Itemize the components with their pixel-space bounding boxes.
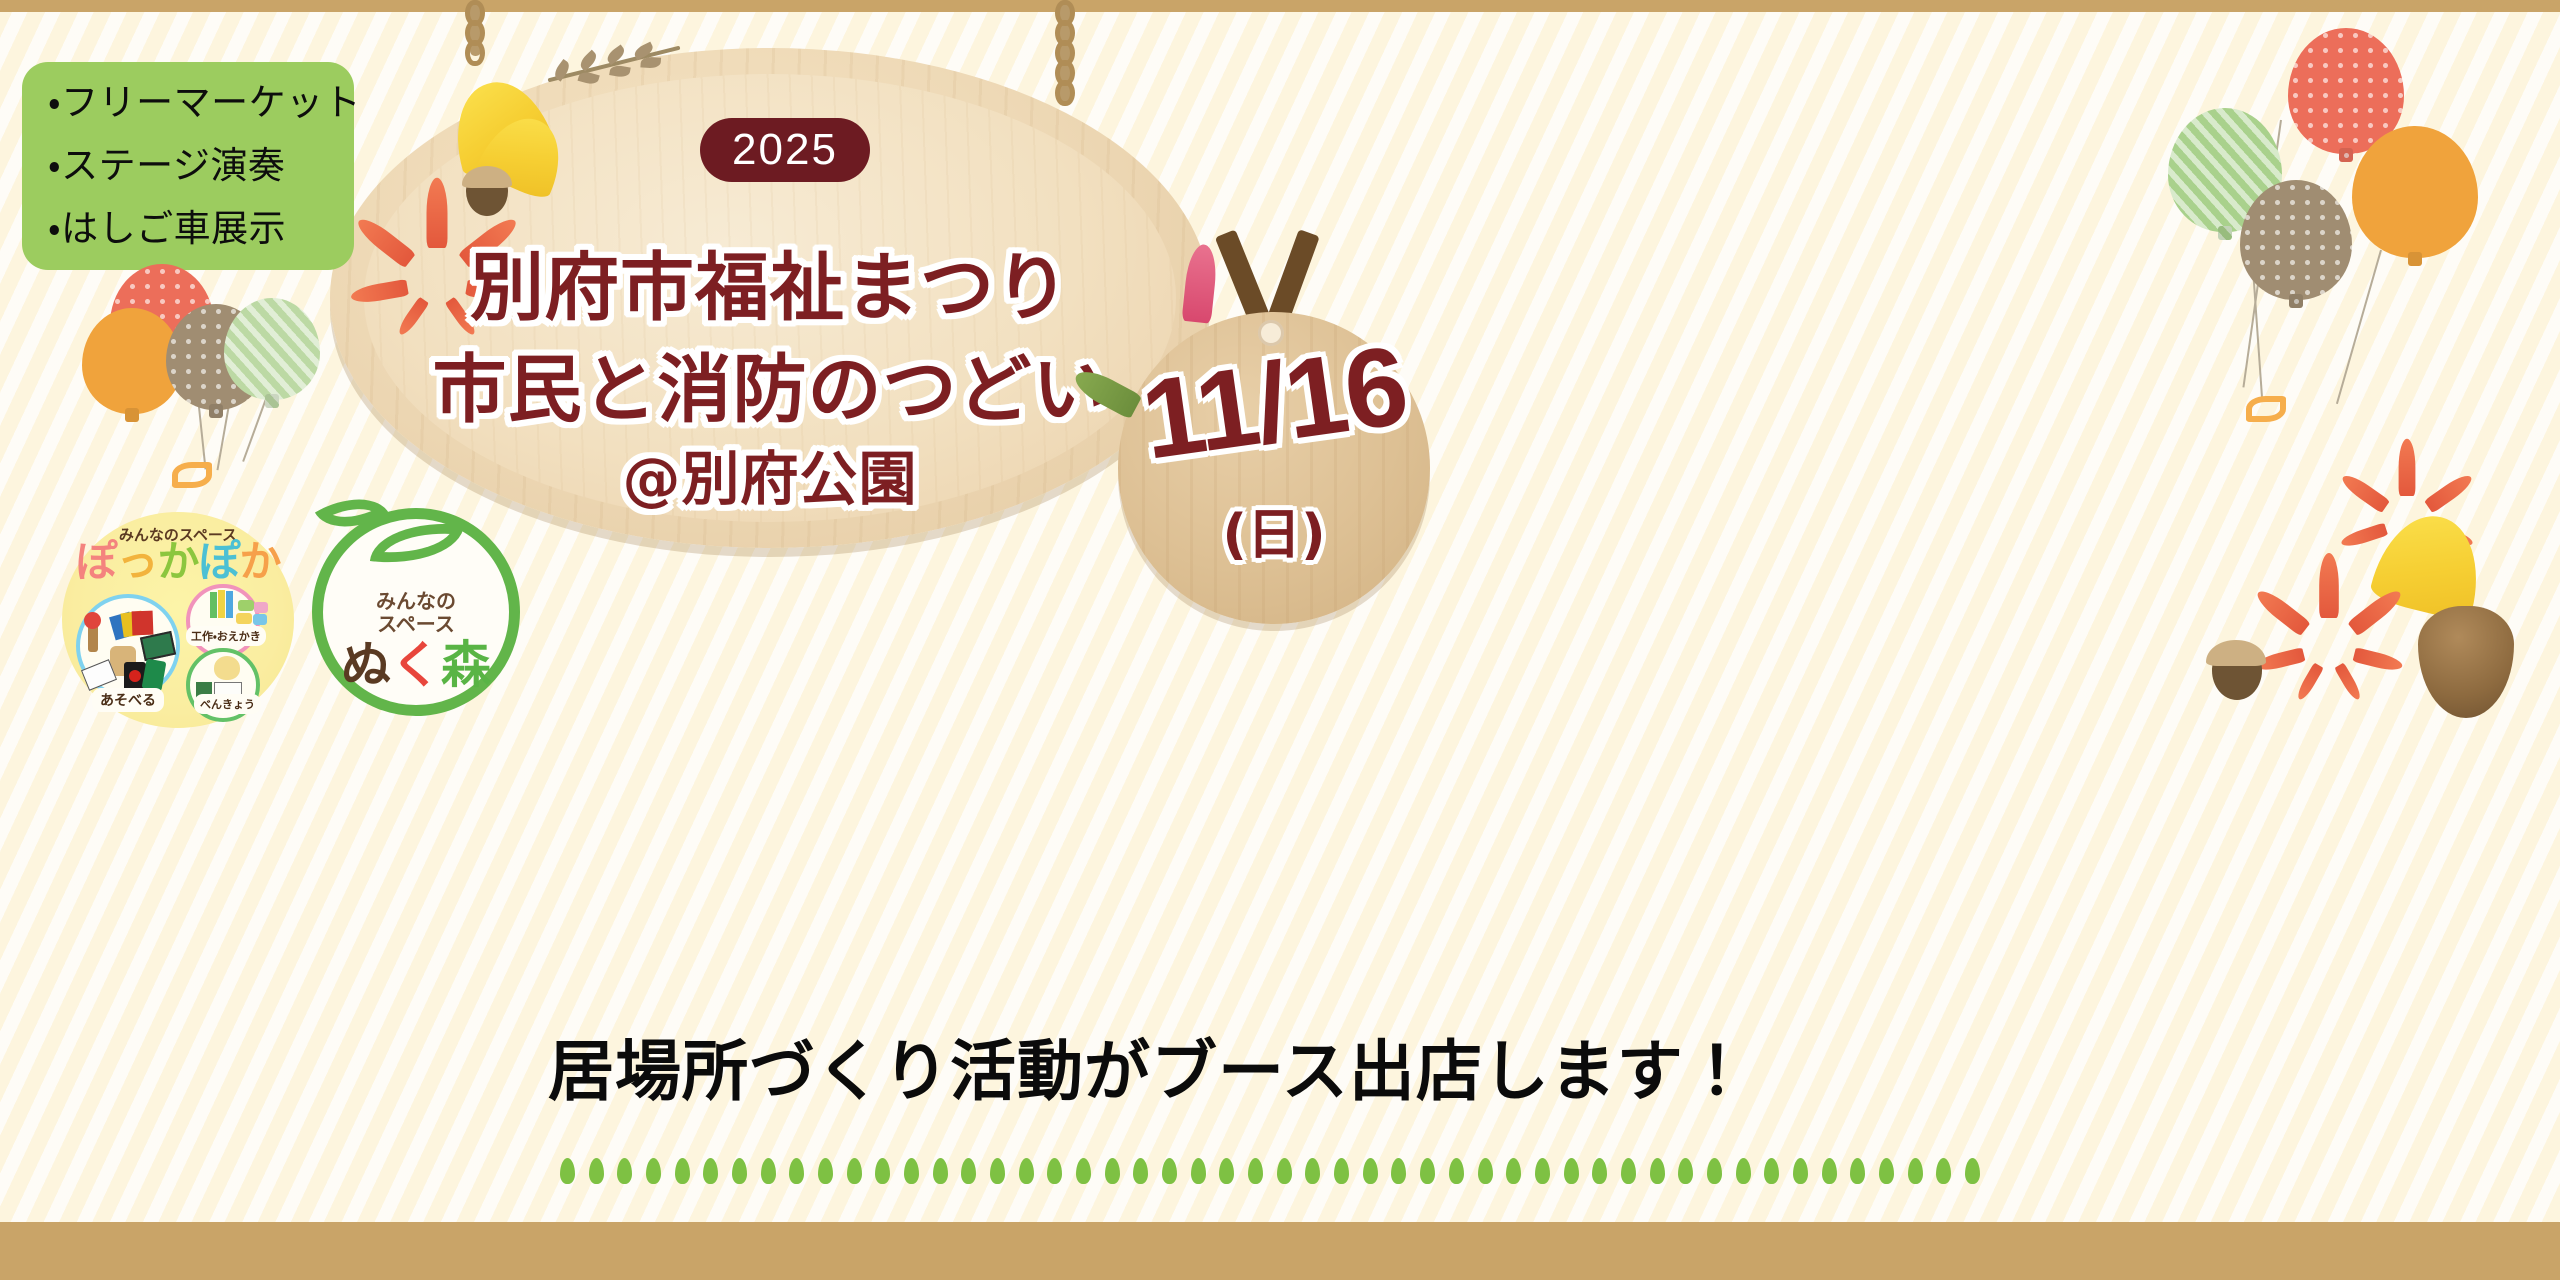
feature-item-freemarket: ・フリーマーケット: [48, 84, 354, 121]
bottom-border-bar: [0, 1222, 2560, 1280]
tape-icon-1: [238, 600, 254, 611]
origami-icon-3: [132, 611, 154, 636]
petal-icon: [1793, 1158, 1808, 1184]
petal-icon: [904, 1158, 919, 1184]
uno-card-dot-icon: [129, 670, 141, 682]
petal-icon: [1334, 1158, 1349, 1184]
nuku-char-1: ぬ: [341, 636, 391, 694]
chain-right: [1060, 0, 1071, 104]
petal-icon: [1564, 1158, 1579, 1184]
petal-icon: [1105, 1158, 1120, 1184]
petal-icon: [1047, 1158, 1062, 1184]
petal-icon: [1965, 1158, 1980, 1184]
petal-icon: [1391, 1158, 1406, 1184]
petal-icon: [961, 1158, 976, 1184]
balloon-orange-icon: [2352, 126, 2478, 258]
petal-icon: [1219, 1158, 1234, 1184]
petal-icon: [646, 1158, 661, 1184]
chick-icon: [214, 656, 240, 680]
petal-icon: [875, 1158, 890, 1184]
petal-icon: [589, 1158, 604, 1184]
petal-icon: [1305, 1158, 1320, 1184]
petal-icon: [1277, 1158, 1292, 1184]
nukumori-subtitle: みんなの スペース: [312, 590, 520, 636]
pokka-char-2: っ: [116, 537, 157, 586]
pencil-icon-1: [210, 592, 217, 618]
petal-icon: [1764, 1158, 1779, 1184]
pencil-icon-3: [226, 591, 233, 618]
petal-icon: [1879, 1158, 1894, 1184]
petal-icon: [1850, 1158, 1865, 1184]
event-title-line-1: 別府市福祉まつり: [330, 228, 1210, 335]
petal-icon: [617, 1158, 632, 1184]
petal-icon: [1936, 1158, 1951, 1184]
feature-item-ladder-truck: ・はしご車展示: [48, 210, 354, 247]
petal-icon: [1478, 1158, 1493, 1184]
petal-icon: [818, 1158, 833, 1184]
petal-icon: [1162, 1158, 1177, 1184]
balloon-ribbon-icon: [2246, 396, 2286, 422]
nuku-char-2: く: [391, 636, 441, 694]
tape-icon-4: [253, 614, 267, 625]
petal-icon: [1019, 1158, 1034, 1184]
petal-icon: [1592, 1158, 1607, 1184]
event-venue: @別府公園: [330, 432, 1210, 516]
balloon-brown-icon: [2240, 180, 2352, 300]
tape-icon-3: [254, 602, 268, 613]
petal-icon: [1363, 1158, 1378, 1184]
nukumori-wordmark: ぬく森: [312, 640, 520, 690]
balloon-ribbon-left-icon: [172, 462, 212, 488]
petal-icon: [1248, 1158, 1263, 1184]
petal-icon: [761, 1158, 776, 1184]
petal-icon: [847, 1158, 862, 1184]
feature-list-box: ・フリーマーケット ・ステージ演奏 ・はしご車展示: [22, 62, 354, 270]
poster-canvas: 2025 別府市福祉まつり 市民と消防のつどい @別府公園 ・フリーマーケット …: [0, 0, 2560, 1280]
nuku-char-3: 森: [441, 636, 491, 694]
footer-message: 居場所づくり活動がブース出店します！: [548, 1018, 1988, 1114]
petal-divider: [560, 1158, 1980, 1184]
nukumori-subtitle-line-1: みんなの: [312, 590, 520, 613]
petal-icon: [1736, 1158, 1751, 1184]
top-border-bar: [0, 0, 2560, 12]
pokka-char-1: ぽ: [75, 537, 116, 586]
petal-icon: [990, 1158, 1005, 1184]
tape-icon-2: [236, 613, 252, 624]
pencil-icon-2: [218, 590, 225, 618]
pokka-label-study: べんきょう: [194, 694, 261, 714]
petal-icon: [1621, 1158, 1636, 1184]
pokka-char-5: か: [240, 537, 281, 586]
petal-icon: [1191, 1158, 1206, 1184]
petal-icon: [1133, 1158, 1148, 1184]
kendama-ball-icon: [84, 612, 101, 629]
petal-icon: [1707, 1158, 1722, 1184]
petal-icon: [1449, 1158, 1464, 1184]
petal-icon: [1678, 1158, 1693, 1184]
petal-icon: [1506, 1158, 1521, 1184]
petal-icon: [1535, 1158, 1550, 1184]
petal-icon: [1650, 1158, 1665, 1184]
feature-item-stage: ・ステージ演奏: [48, 147, 354, 184]
petal-icon: [732, 1158, 747, 1184]
petal-icon: [1076, 1158, 1091, 1184]
pokka-char-3: か: [157, 537, 198, 586]
event-day-of-week: (日): [1118, 490, 1430, 569]
petal-icon: [675, 1158, 690, 1184]
chain-left: [470, 0, 481, 56]
pokka-char-4: ぽ: [199, 537, 240, 586]
petal-icon: [703, 1158, 718, 1184]
petal-icon: [1822, 1158, 1837, 1184]
petal-icon: [933, 1158, 948, 1184]
balloon-green-left-icon: [224, 298, 320, 400]
petal-icon: [789, 1158, 804, 1184]
pokka-label-play: あそべる: [92, 688, 164, 712]
pokkapoka-wordmark: ぽっかぽか: [62, 541, 294, 583]
pokka-label-craft: 工作・おえかき: [186, 626, 266, 646]
petal-icon: [560, 1158, 575, 1184]
petal-icon: [1420, 1158, 1435, 1184]
year-badge: 2025: [700, 118, 870, 182]
petal-icon: [1908, 1158, 1923, 1184]
nukumori-subtitle-line-2: スペース: [312, 613, 520, 636]
